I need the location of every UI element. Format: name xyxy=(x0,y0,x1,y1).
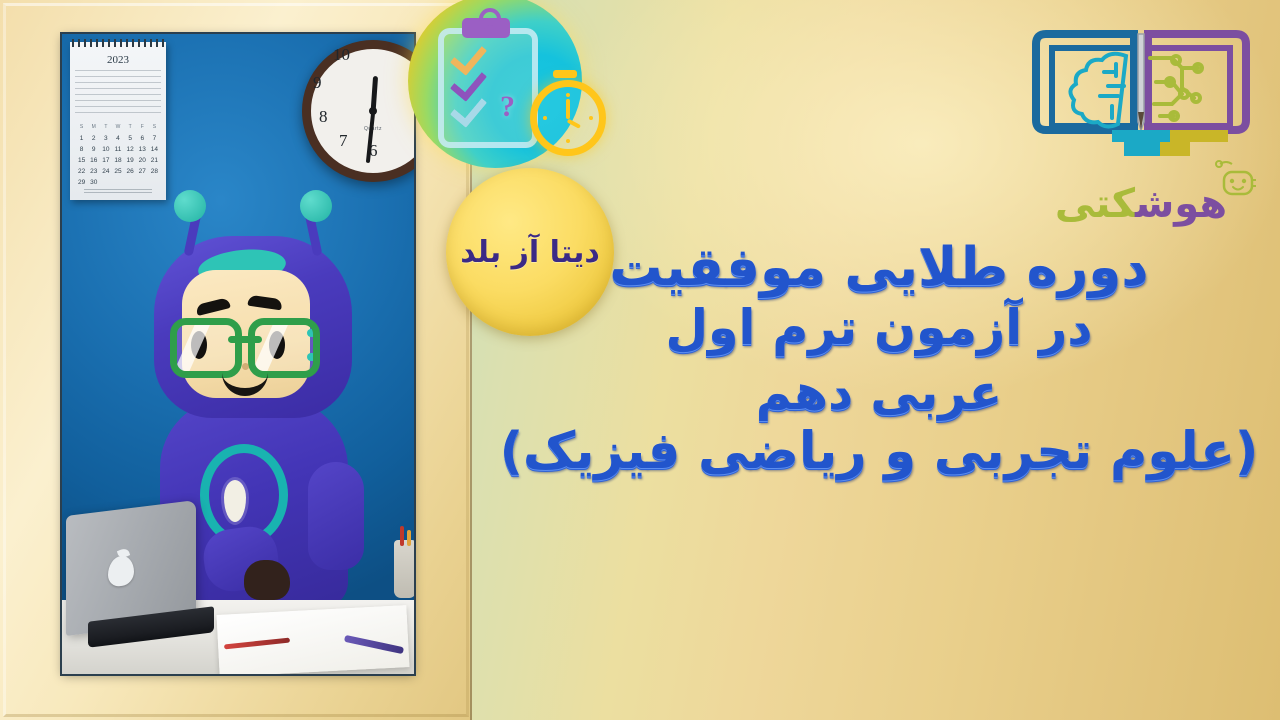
calendar-day: 22 xyxy=(76,168,87,178)
calendar-day: 1 xyxy=(76,135,87,145)
calendar-day: 13 xyxy=(137,146,148,156)
pen-in-cup xyxy=(407,530,411,546)
calendar-day: 9 xyxy=(88,146,99,156)
calendar-day: 12 xyxy=(125,146,136,156)
stopwatch-hand xyxy=(566,99,570,119)
slide-canvas: 2023 S M T W T F S 1 2 3 4 5 6 7 xyxy=(0,0,1280,720)
calendar-day: 30 xyxy=(88,179,99,189)
calendar-footer-text xyxy=(84,189,152,194)
calendar-day: 19 xyxy=(125,157,136,167)
calendar-day: 4 xyxy=(112,135,123,145)
headline-line-1: دوره طلایی موفقیت xyxy=(490,238,1268,297)
headline-line-4: (علوم تجربی و ریاضی فیزیک) xyxy=(490,423,1268,480)
pen-in-cup xyxy=(400,526,404,546)
calendar-weekday-header: S xyxy=(76,124,87,134)
calendar-day: 2 xyxy=(88,135,99,145)
calendar-mini-month xyxy=(75,70,161,114)
calendar-day: 23 xyxy=(88,168,99,178)
glasses-temple xyxy=(307,329,320,337)
calendar-day: 20 xyxy=(137,157,148,167)
headline-block: دوره طلایی موفقیت در آزمون ترم اول عربی … xyxy=(490,238,1268,480)
wall-calendar: 2023 S M T W T F S 1 2 3 4 5 6 7 xyxy=(70,42,166,200)
calendar-weekday-header: T xyxy=(125,124,136,134)
logo-word-hoosh: هوش xyxy=(1135,181,1227,227)
glasses-temple xyxy=(307,353,320,361)
calendar-day: 10 xyxy=(100,146,111,156)
calendar-day: 14 xyxy=(149,146,160,156)
calendar-day: 16 xyxy=(88,157,99,167)
headline-line-2: در آزمون ترم اول xyxy=(490,301,1268,356)
calendar-day: 5 xyxy=(125,135,136,145)
stopwatch-tick-dot xyxy=(589,116,593,120)
robot-left-arm xyxy=(308,462,364,570)
calendar-weekday-header: M xyxy=(88,124,99,134)
calendar-day: 21 xyxy=(149,157,160,167)
clock-number: 8 xyxy=(319,107,328,127)
stopwatch-hand xyxy=(567,119,581,129)
calendar-day: 28 xyxy=(149,168,160,178)
macbook-laptop xyxy=(66,508,214,640)
calendar-day: 25 xyxy=(112,168,123,178)
stopwatch-icon xyxy=(530,80,606,156)
calendar-spiral-binding xyxy=(72,39,164,47)
calendar-weekday-header: F xyxy=(137,124,148,134)
stopwatch-tick-dot xyxy=(543,116,547,120)
clock-center-pin xyxy=(369,107,377,115)
calendar-day: 8 xyxy=(76,146,87,156)
logo-wordmark: هوشکتی xyxy=(1020,184,1262,224)
question-mark-icon: ? xyxy=(500,90,515,124)
calendar-weekday-header: T xyxy=(100,124,111,134)
photo-frame: 2023 S M T W T F S 1 2 3 4 5 6 7 xyxy=(0,0,472,720)
desk-papers xyxy=(217,605,410,674)
clock-number: 9 xyxy=(313,73,322,93)
calendar-day: 17 xyxy=(100,157,111,167)
calendar-day: 24 xyxy=(100,168,111,178)
calendar-weekday-header: S xyxy=(149,124,160,134)
calendar-year: 2023 xyxy=(70,54,166,66)
robot-glasses xyxy=(170,318,320,364)
calendar-day: 27 xyxy=(137,168,148,178)
robot-antenna-ball-right xyxy=(300,190,332,222)
calendar-day-grid: S M T W T F S 1 2 3 4 5 6 7 8 9 10 xyxy=(76,124,160,186)
calendar-day: 29 xyxy=(76,179,87,189)
calendar-day: 3 xyxy=(100,135,111,145)
headline-line-3: عربی دهم xyxy=(490,366,1268,421)
clock-number: 7 xyxy=(339,131,348,151)
quiz-badge: ? xyxy=(408,0,582,168)
clipboard-checklist-stopwatch-icon: ? xyxy=(438,18,534,136)
glasses-bridge xyxy=(228,336,262,343)
brand-logo[interactable]: هوشکتی xyxy=(1020,14,1262,228)
calendar-day: 7 xyxy=(149,135,160,145)
calendar-day: 26 xyxy=(125,168,136,178)
clipboard-clip xyxy=(462,18,510,38)
stopwatch-tick-dot xyxy=(566,139,570,143)
calendar-weekday-header: W xyxy=(112,124,123,134)
open-book-brain-circuit-icon xyxy=(1028,20,1254,170)
calendar-day: 18 xyxy=(112,157,123,167)
calendar-day: 11 xyxy=(112,146,123,156)
robot-antenna-ball-left xyxy=(174,190,206,222)
logo-word-kati: کتی xyxy=(1055,181,1135,227)
stopwatch-tick-dot xyxy=(566,93,570,97)
calendar-day: 15 xyxy=(76,157,87,167)
clock-number: 10 xyxy=(333,45,350,65)
robot-studying-at-laptop-photo: 2023 S M T W T F S 1 2 3 4 5 6 7 xyxy=(62,34,414,674)
calendar-day: 6 xyxy=(137,135,148,145)
robot-hand xyxy=(244,560,290,600)
pen-cup xyxy=(394,540,414,598)
